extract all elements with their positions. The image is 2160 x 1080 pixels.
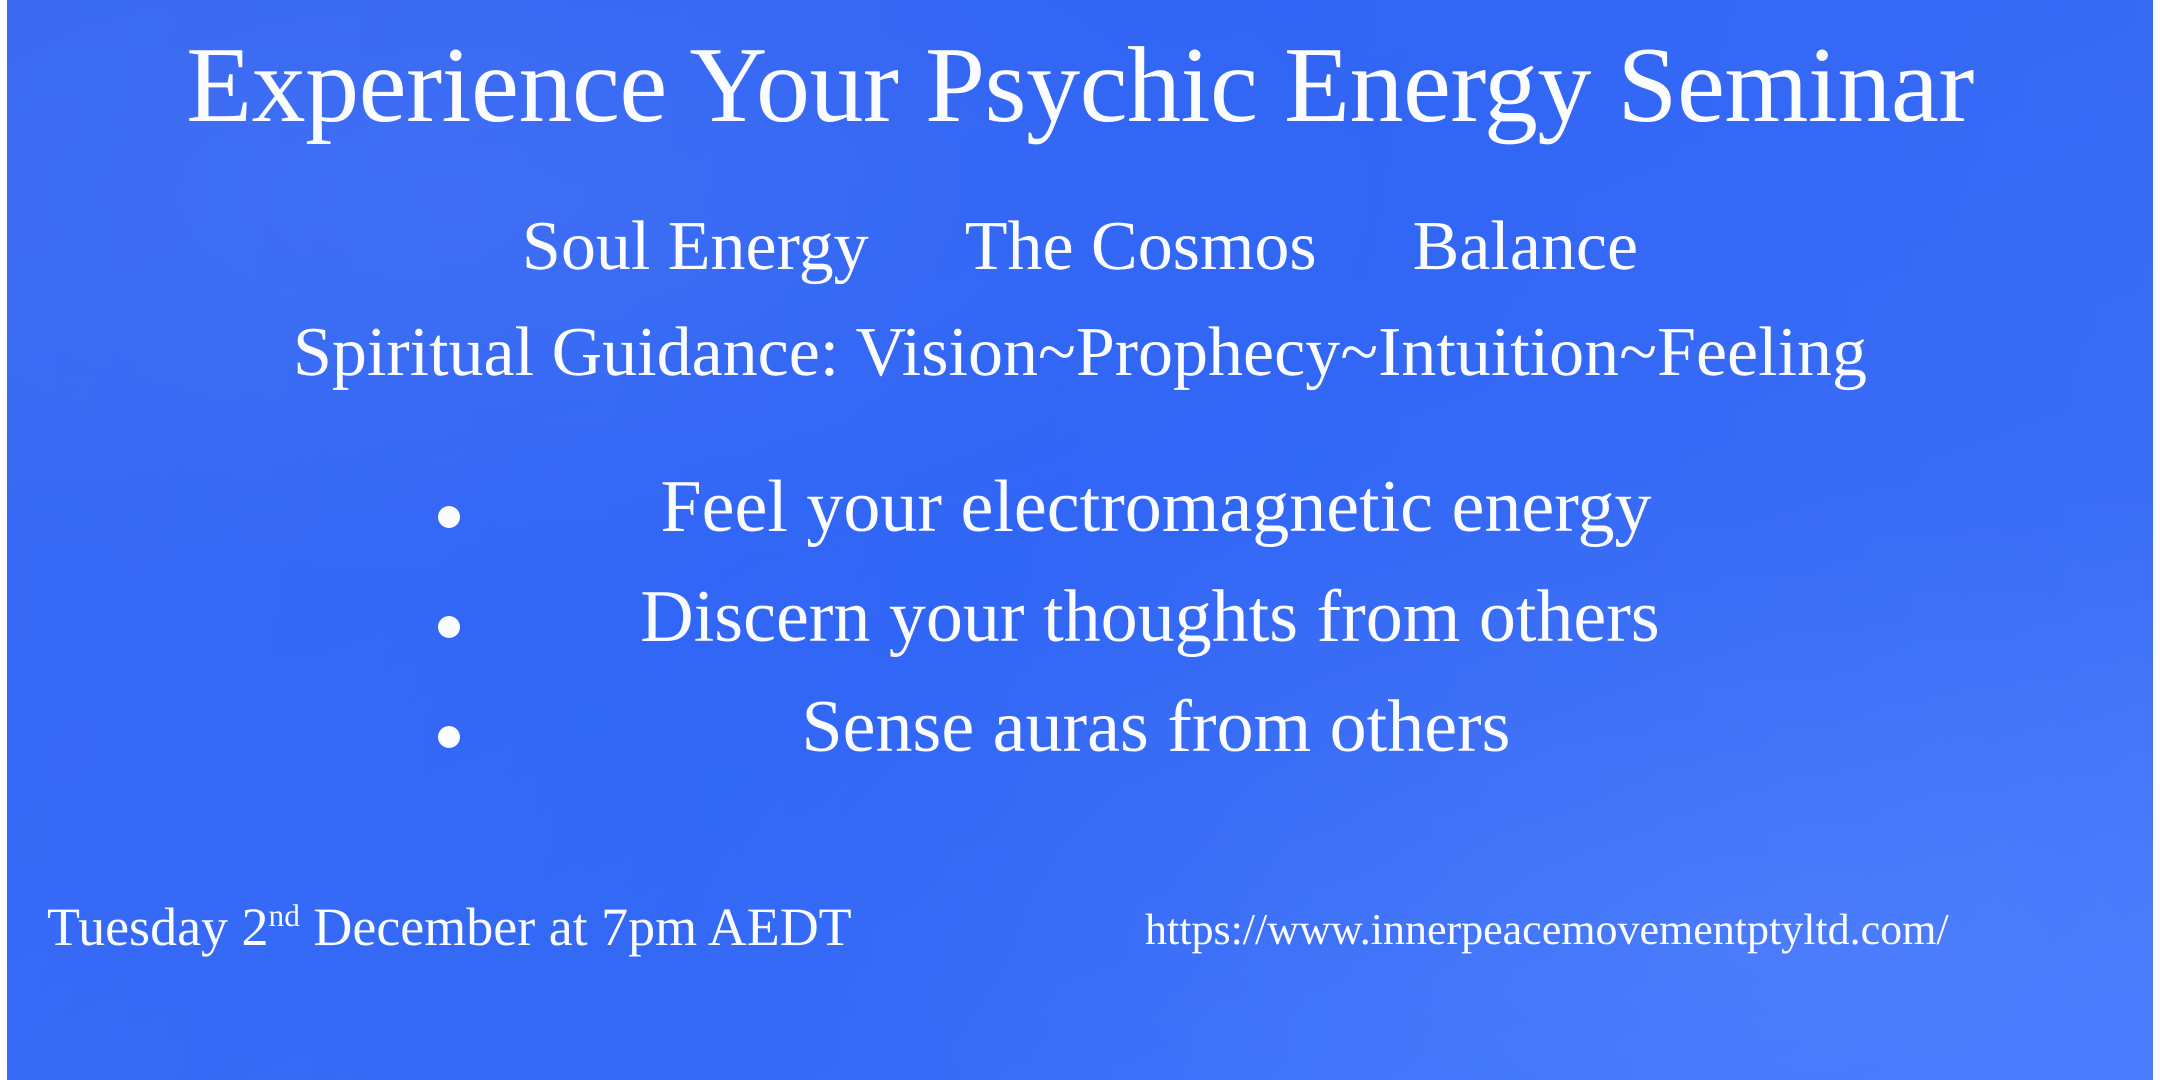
event-date-ordinal: nd — [269, 898, 300, 933]
event-date-suffix: December at 7pm AEDT — [300, 897, 852, 957]
benefits-list: Feel your electromagnetic energy Discern… — [7, 470, 2153, 800]
list-item-label: Feel your electromagnetic energy — [477, 470, 1835, 544]
guidance-line: Spiritual Guidance: Vision~Prophecy~Intu… — [7, 318, 2153, 388]
bullet-point-icon — [438, 506, 460, 528]
event-banner: Experience Your Psychic Energy Seminar S… — [0, 0, 2160, 1080]
list-item: Sense auras from others — [7, 690, 2153, 800]
website-url[interactable]: https://www.innerpeacemovementptyltd.com… — [1145, 908, 1949, 952]
list-item-label: Discern your thoughts from others — [447, 580, 1853, 654]
event-datetime: Tuesday 2nd December at 7pm AEDT — [47, 900, 852, 954]
page-title: Experience Your Psychic Energy Seminar — [7, 32, 2153, 140]
topics-row: Soul EnergyThe CosmosBalance — [7, 212, 2153, 282]
topic-balance: Balance — [1413, 208, 1638, 285]
list-item-label: Sense auras from others — [477, 690, 1835, 764]
list-item: Discern your thoughts from others — [7, 580, 2153, 690]
list-item: Feel your electromagnetic energy — [7, 470, 2153, 580]
bullet-point-icon — [438, 726, 460, 748]
banner-background: Experience Your Psychic Energy Seminar S… — [7, 0, 2153, 1080]
event-date-prefix: Tuesday 2 — [47, 897, 269, 957]
topic-soul-energy: Soul Energy — [522, 208, 869, 285]
topic-the-cosmos: The Cosmos — [965, 208, 1317, 285]
